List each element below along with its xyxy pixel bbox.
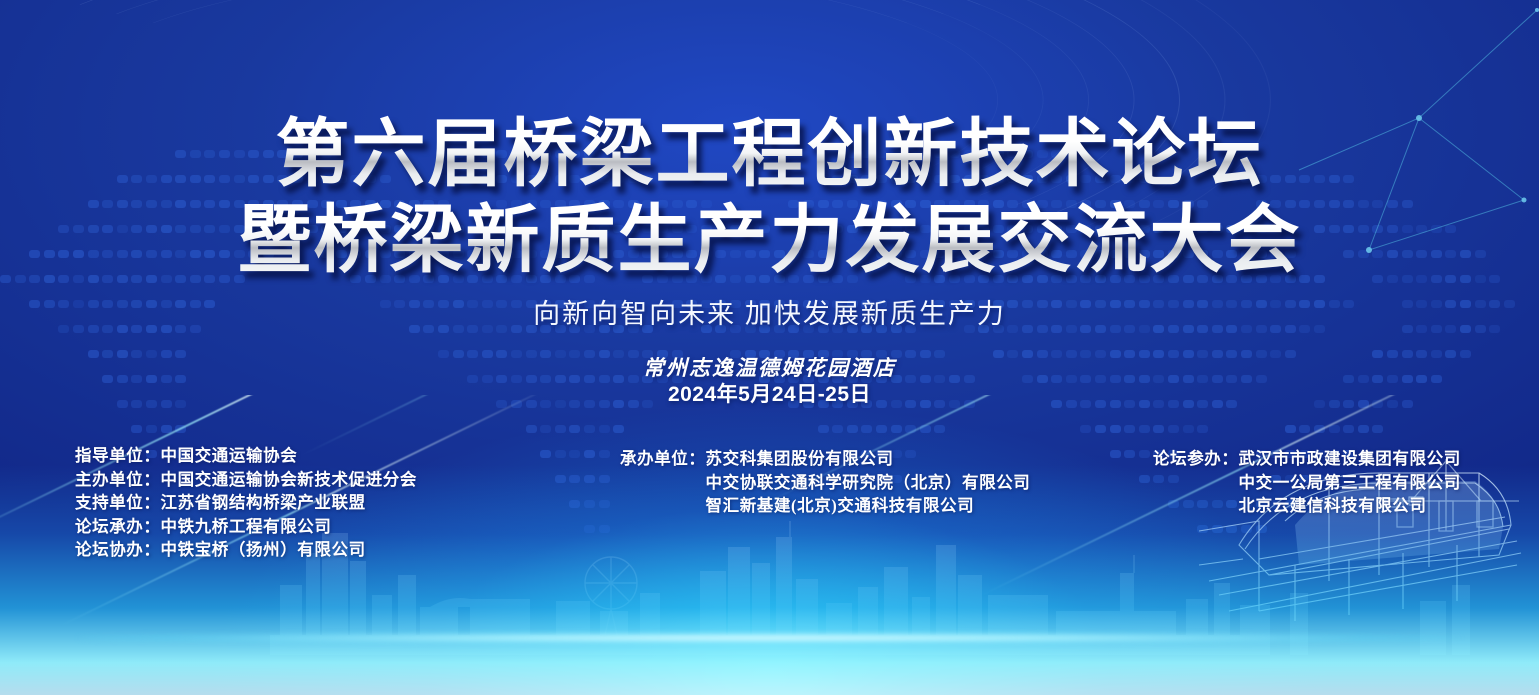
- org-row: 承办单位：中交协联交通科学研究院（北京）有限公司: [620, 471, 1030, 495]
- org-row: 主办单位：中国交通运输协会新技术促进分会: [75, 468, 417, 492]
- banner-content: 第六届桥梁工程创新技术论坛 暨桥梁新质生产力发展交流大会 向新向智向未来 加快发…: [0, 0, 1539, 695]
- org-row: 支持单位：江苏省钢结构桥梁产业联盟: [75, 491, 417, 515]
- org-value: 中铁九桥工程有限公司: [161, 515, 332, 539]
- org-value: 智汇新基建(北京)交通科技有限公司: [706, 494, 975, 518]
- org-column-left: 指导单位：中国交通运输协会 主办单位：中国交通运输协会新技术促进分会 支持单位：…: [75, 444, 417, 562]
- venue-name: 常州志逸温德姆花园酒店: [0, 355, 1539, 381]
- title-line-2: 暨桥梁新质生产力发展交流大会: [0, 198, 1539, 284]
- org-label: 论坛参办：: [1153, 447, 1239, 471]
- org-row: 论坛参办：武汉市市政建设集团有限公司: [1153, 447, 1461, 471]
- event-date: 2024年5月24日-25日: [0, 381, 1539, 409]
- org-row: 指导单位：中国交通运输协会: [75, 444, 417, 468]
- organizations-block: 指导单位：中国交通运输协会 主办单位：中国交通运输协会新技术促进分会 支持单位：…: [0, 444, 1539, 564]
- org-value: 中铁宝桥（扬州）有限公司: [161, 538, 366, 562]
- org-row: 论坛承办：中铁九桥工程有限公司: [75, 515, 417, 539]
- org-row: 论坛参办：北京云建信科技有限公司: [1153, 494, 1461, 518]
- org-label: 论坛承办：: [75, 515, 161, 539]
- org-label: 主办单位：: [75, 468, 161, 492]
- org-value: 中国交通运输协会新技术促进分会: [161, 468, 418, 492]
- org-label: 论坛协办：: [75, 538, 161, 562]
- org-value: 中国交通运输协会: [161, 444, 298, 468]
- org-label: 指导单位：: [75, 444, 161, 468]
- org-row: 承办单位：智汇新基建(北京)交通科技有限公司: [620, 494, 1030, 518]
- org-value: 北京云建信科技有限公司: [1239, 494, 1427, 518]
- slogan: 向新向智向未来 加快发展新质生产力: [0, 297, 1539, 331]
- org-column-right: 论坛参办：武汉市市政建设集团有限公司 论坛参办：中交一公局第三工程有限公司 论坛…: [1153, 447, 1461, 518]
- title-line-1: 第六届桥梁工程创新技术论坛: [0, 112, 1539, 198]
- org-column-middle: 承办单位：苏交科集团股份有限公司 承办单位：中交协联交通科学研究院（北京）有限公…: [620, 447, 1030, 518]
- org-label: 承办单位：: [620, 447, 706, 471]
- org-row: 论坛协办：中铁宝桥（扬州）有限公司: [75, 538, 417, 562]
- org-value: 武汉市市政建设集团有限公司: [1239, 447, 1461, 471]
- org-value: 中交一公局第三工程有限公司: [1239, 471, 1461, 495]
- org-value: 中交协联交通科学研究院（北京）有限公司: [706, 471, 1031, 495]
- org-row: 承办单位：苏交科集团股份有限公司: [620, 447, 1030, 471]
- org-row: 论坛参办：中交一公局第三工程有限公司: [1153, 471, 1461, 495]
- org-label: 支持单位：: [75, 491, 161, 515]
- venue-block: 常州志逸温德姆花园酒店 2024年5月24日-25日: [0, 355, 1539, 409]
- org-value: 苏交科集团股份有限公司: [706, 447, 894, 471]
- org-value: 江苏省钢结构桥梁产业联盟: [161, 491, 366, 515]
- title-block: 第六届桥梁工程创新技术论坛 暨桥梁新质生产力发展交流大会: [0, 112, 1539, 284]
- conference-banner: 第六届桥梁工程创新技术论坛 暨桥梁新质生产力发展交流大会 向新向智向未来 加快发…: [0, 0, 1539, 695]
